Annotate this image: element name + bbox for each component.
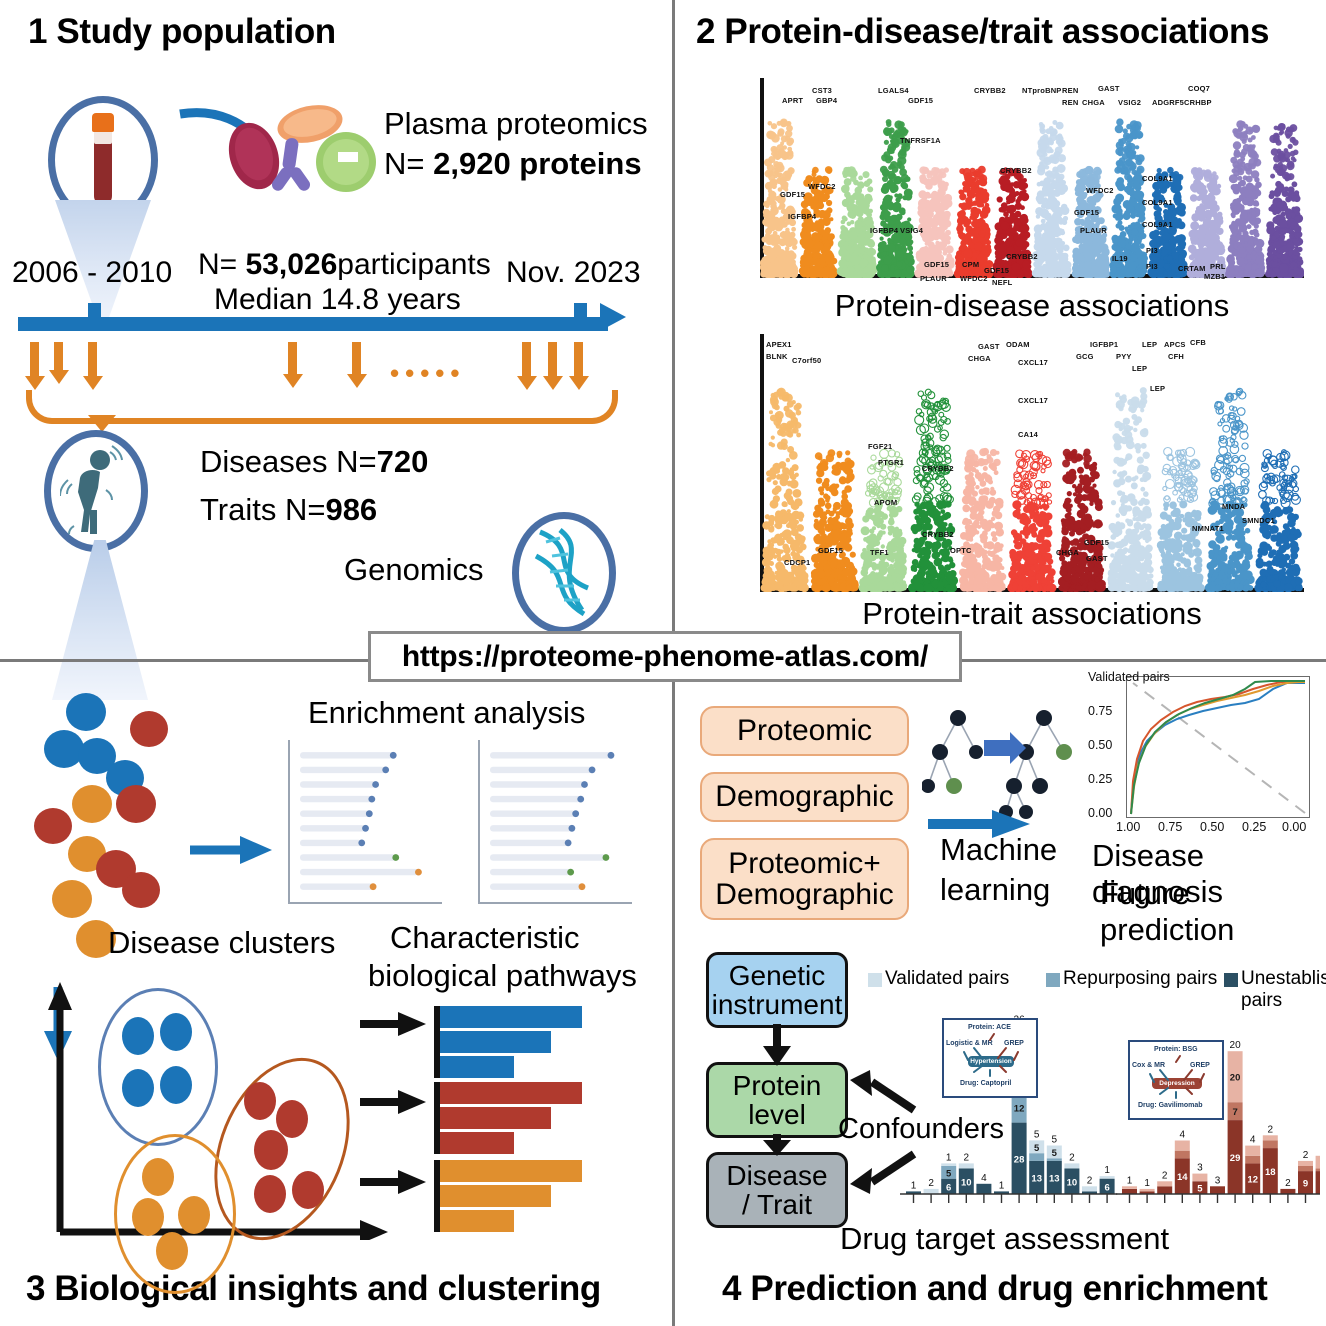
legend-label: Repurposing pairs [1063, 968, 1217, 990]
disease-trait-line2: / Trait [742, 1190, 812, 1219]
protein-count-prefix: N= [384, 146, 433, 181]
protein-count-value: 2,920 proteins [433, 146, 641, 181]
protein-disease-manhattan-plot: GDF15 WFDC2 IGFBP4 APRT CST3 GBP4 IGFBP4… [760, 78, 1304, 278]
cluster-dot [178, 1196, 210, 1234]
gene-label: TNFRSF1A [900, 136, 941, 145]
scatter-dot [130, 711, 168, 747]
participants-prefix: N= [198, 248, 246, 281]
gene-label: CA14 [1018, 430, 1038, 439]
roc-x-tick: 0.25 [1242, 820, 1266, 834]
scatter-dot [34, 808, 72, 844]
gene-label: GDF15 [818, 546, 843, 555]
gene-label: NEFL [992, 278, 1012, 287]
cluster-dot [160, 1013, 192, 1051]
gene-label: PTGR1 [878, 458, 904, 467]
followup-arrowhead [347, 374, 367, 388]
machine-learning-label-line2: learning [940, 872, 1050, 908]
cluster-dot [292, 1171, 324, 1209]
gene-label: NTproBNP [1022, 86, 1062, 95]
legend-swatch [1046, 973, 1060, 987]
dna-helix-icon [526, 526, 602, 620]
scatter-dot [52, 880, 92, 918]
roc-curves-svg [1127, 677, 1309, 817]
genetic-instrument-box[interactable]: Genetic instrument [706, 952, 848, 1028]
gene-label: CFB [1190, 338, 1206, 347]
study-end-label: Nov. 2023 [506, 256, 641, 290]
roc-y-tick: 0.75 [1088, 704, 1112, 718]
gene-label: VSIG2 [1118, 98, 1141, 107]
funnel-shape-bottom [52, 540, 148, 700]
mr-inset-bsg: Protein: BSG Cox & MR GREP Depression Dr… [1128, 1040, 1224, 1120]
gene-label: CHGA [1082, 98, 1105, 107]
pathway-bar [440, 1132, 514, 1154]
inset-spoke-lines [944, 1020, 1036, 1096]
followup-arrow [522, 342, 531, 378]
timeline-arrowhead [600, 303, 626, 331]
gene-label: PLAUR [920, 274, 947, 283]
gene-label: APEX1 [766, 340, 792, 349]
cluster-dot [122, 1017, 154, 1055]
ellipsis-dots: ••••• [390, 358, 466, 389]
input-proteomic-label: Proteomic [737, 715, 872, 747]
roc-y-tick: 0.25 [1088, 772, 1112, 786]
enrichment-flow-arrow [188, 830, 278, 870]
gene-label: CHGA [1056, 548, 1079, 557]
tube-cap-icon [92, 113, 114, 132]
gene-label: IL19 [1112, 254, 1128, 263]
plasma-proteomics-label: Plasma proteomics [384, 106, 648, 142]
followup-arrow [548, 342, 557, 378]
followup-arrow [88, 342, 97, 378]
cluster-dot [122, 1069, 154, 1107]
followup-arrowhead [283, 374, 303, 388]
cluster-dot [132, 1198, 164, 1236]
timeline-tick-end [574, 303, 587, 331]
protein-blob-cluster-icon [218, 96, 378, 206]
followup-arrow [30, 342, 39, 378]
gene-label: BLNK [766, 352, 788, 361]
participants-suffix: participants [337, 248, 490, 281]
enrichment-lollipop-svg-left [290, 740, 442, 902]
legend-label: Validated pairs [885, 968, 1009, 990]
disease-trait-line1: Disease [726, 1161, 827, 1190]
mr-inset-ace: Protein: ACE Logistic & MR GREP Hyperten… [942, 1018, 1038, 1098]
gene-label: GCG [1076, 352, 1094, 361]
followup-arrowhead [517, 376, 537, 390]
gene-label: GBP4 [816, 96, 837, 105]
cluster-outline-blue [98, 988, 218, 1146]
gene-label: CRYBB2 [922, 530, 954, 539]
gene-label: IGFBP4 [788, 212, 816, 221]
cluster-dot [244, 1082, 276, 1120]
protein-trait-manhattan-plot: APEX1 BLNK C7orf50 CDCP1 GDF15 FGF21 PTG… [760, 334, 1304, 592]
gene-label: GDF15 [984, 266, 1009, 275]
gene-label: PI3 [1146, 246, 1158, 255]
manhattan-points-disease [760, 78, 1304, 278]
gene-label: WFDC2 [1086, 186, 1114, 195]
machine-learning-label-line1: Machine [940, 832, 1057, 868]
gene-label: CFH [1168, 352, 1184, 361]
gene-label: CRYBB2 [922, 464, 954, 473]
panel-1-title: 1 Study population [28, 14, 336, 49]
gene-label: GDF15 [1074, 208, 1099, 217]
followup-arrowhead [569, 376, 589, 390]
gene-label: MNDA [1222, 502, 1245, 511]
enrichment-analysis-label: Enrichment analysis [308, 695, 585, 731]
pathway-bar [440, 1056, 514, 1078]
input-combo-label-line2: Demographic [715, 879, 893, 911]
pathways-label-line2: biological pathways [368, 958, 637, 994]
cluster-dot [276, 1100, 308, 1138]
gene-label: REN [1062, 86, 1078, 95]
gene-label: CXCL17 [1018, 358, 1048, 367]
scatter-dot [116, 785, 156, 823]
protein-level-line2: level [748, 1100, 806, 1129]
roc-x-tick: 0.50 [1200, 820, 1224, 834]
gene-label: PI3 [1146, 262, 1158, 271]
roc-x-tick: 0.75 [1158, 820, 1182, 834]
pathway-bar [440, 1210, 514, 1232]
pathway-bar [440, 1006, 582, 1028]
cluster-dot [254, 1130, 288, 1170]
protein-level-line1: Protein [733, 1071, 822, 1100]
gene-label: WFDC2 [808, 182, 836, 191]
pathway-arrow [358, 1008, 428, 1040]
atlas-url-text: https://proteome-phenome-atlas.com/ [402, 640, 928, 674]
gene-label: GDF15 [908, 96, 933, 105]
diseases-count-label: Diseases N=720 [200, 444, 428, 480]
pathways-label-line1: Characteristic [390, 920, 580, 956]
gene-label: LGALS4 [878, 86, 909, 95]
gene-label: WFDC2 [960, 274, 988, 283]
input-demographic-box[interactable]: Demographic [700, 772, 909, 822]
gene-label: IGFBP1 [1090, 340, 1118, 349]
followup-arrow [54, 342, 63, 372]
gene-label: CRYBB2 [1006, 252, 1038, 261]
enrichment-chart-left [288, 740, 442, 904]
gene-label: PYY [1116, 352, 1132, 361]
input-combo-label-line1: Proteomic+ [728, 848, 881, 880]
enrichment-lollipop-svg-right [480, 740, 632, 902]
gene-label: GDF15 [780, 190, 805, 199]
traits-label-text: Traits N= [200, 492, 325, 527]
pathway-bar [440, 1082, 582, 1104]
gene-label: COL9A1 [1142, 198, 1173, 207]
input-proteomic-demographic-box[interactable]: Proteomic+ Demographic [700, 838, 909, 920]
gene-label: APCS [1164, 340, 1186, 349]
gene-label: COL9A1 [1142, 220, 1173, 229]
future-prediction-label: Future prediction [1100, 876, 1326, 948]
followup-arrow [288, 342, 297, 376]
legend-swatch [868, 973, 882, 987]
roc-curve-chart: Validated pairs 0.75 0.50 0.25 0.00 1.00… [1086, 676, 1310, 836]
disease-trait-box[interactable]: Disease / Trait [706, 1152, 848, 1228]
protein-disease-caption: Protein-disease associations [760, 288, 1304, 324]
gene-label: NMNAT1 [1192, 524, 1224, 533]
panel-3-title: 3 Biological insights and clustering [26, 1271, 601, 1306]
gene-label: APOM [874, 498, 897, 507]
gene-label: VSIG4 [900, 226, 923, 235]
traits-count-value: 986 [325, 492, 377, 527]
gene-label: LEP [1142, 340, 1157, 349]
gene-label: CRHBP [1184, 98, 1212, 107]
gene-label: LEP [1132, 364, 1147, 373]
gene-label: CST3 [812, 86, 832, 95]
genomics-label: Genomics [344, 552, 484, 588]
gene-label: CPM [962, 260, 979, 269]
pathway-bar [440, 1185, 551, 1207]
gene-label: GDF15 [924, 260, 949, 269]
scatter-dot [66, 693, 106, 731]
legend-swatch [1224, 973, 1238, 987]
input-proteomic-box[interactable]: Proteomic [700, 706, 909, 756]
traits-count-label: Traits N=986 [200, 492, 377, 528]
protein-count-label: N= 2,920 proteins [384, 146, 642, 182]
gene-label: GDF15 [1084, 538, 1109, 547]
gene-label: IGFBP4 [870, 226, 898, 235]
gene-label: ODAM [1006, 340, 1030, 349]
gene-label: ADGRF5 [1152, 98, 1184, 107]
diseases-label-text: Diseases N= [200, 444, 377, 479]
roc-x-tick: 0.00 [1282, 820, 1306, 834]
pathway-arrow [358, 1166, 428, 1198]
gene-label: GAST [1098, 84, 1120, 93]
scatter-dot [44, 730, 84, 768]
protein-level-box[interactable]: Protein level [706, 1062, 848, 1138]
followup-arrowhead [49, 370, 69, 384]
diseases-count-value: 720 [377, 444, 429, 479]
gene-label: MZB1 [1204, 272, 1225, 281]
timeline-tick-start [88, 303, 101, 331]
scatter-dot [122, 872, 160, 908]
gene-label: CRYBB2 [1000, 166, 1032, 175]
followup-arrow [352, 342, 361, 376]
gene-label: TFF1 [870, 548, 889, 557]
cluster-dot [160, 1066, 192, 1104]
panel-2-title: 2 Protein-disease/trait associations [696, 14, 1269, 49]
flow-arrow-down [760, 1134, 794, 1156]
gene-label: CDCP1 [784, 558, 810, 567]
gene-label: FGF21 [868, 442, 892, 451]
gene-label: C7orf50 [792, 356, 821, 365]
cluster-dot [156, 1232, 188, 1270]
gene-label: PLAUR [1080, 226, 1107, 235]
study-start-label: 2006 - 2010 [12, 256, 172, 290]
gene-label: LEP [1150, 384, 1165, 393]
flow-arrow-down [760, 1024, 794, 1066]
inset-spoke-lines [1130, 1042, 1222, 1118]
participants-label: N= 53,026participants [198, 248, 491, 282]
pathway-bar [440, 1031, 551, 1053]
scatter-dot [72, 785, 112, 823]
pathway-bar [440, 1160, 582, 1182]
gene-label: GAST [978, 342, 1000, 351]
panel-4-title: 4 Prediction and drug enrichment [722, 1271, 1267, 1306]
drug-target-assessment-caption: Drug target assessment [840, 1221, 1169, 1257]
gene-label: PRL [1210, 262, 1226, 271]
cluster-dot [254, 1175, 286, 1213]
gene-label: CRTAM [1178, 264, 1206, 273]
gene-label: APRT [782, 96, 803, 105]
pathway-arrow [358, 1086, 428, 1118]
atlas-url-banner[interactable]: https://proteome-phenome-atlas.com/ [368, 631, 962, 682]
gene-label: CRYBB2 [974, 86, 1006, 95]
followup-arrowhead [83, 376, 103, 390]
gene-label: SMNDC1 [1242, 516, 1275, 525]
figure-canvas: 1 Study population Plasma proteomics N= … [0, 0, 1326, 1326]
study-timeline-bar [18, 317, 608, 331]
pathway-bar [440, 1107, 551, 1129]
followup-arrowhead [25, 376, 45, 390]
input-demographic-label: Demographic [715, 781, 893, 813]
followup-arrow [574, 342, 583, 378]
enrichment-chart-right [478, 740, 632, 904]
gene-label: CHGA [968, 354, 991, 363]
protein-trait-caption: Protein-trait associations [760, 596, 1304, 632]
roc-x-tick: 1.00 [1116, 820, 1140, 834]
gene-label: COL9A1 [1142, 174, 1173, 183]
gene-label: CXCL17 [1018, 396, 1048, 405]
followup-arrowhead [543, 376, 563, 390]
roc-plot-frame [1126, 676, 1310, 818]
disease-clusters-label: Disease clusters [108, 925, 335, 961]
gene-label: GAST [1086, 554, 1108, 563]
roc-y-tick: Validated pairs [1088, 670, 1170, 684]
gene-label: COQ7 [1188, 84, 1210, 93]
followup-label: Median 14.8 years [214, 283, 461, 317]
plasma-layer [94, 130, 112, 144]
stooped-person-icon [60, 444, 134, 540]
roc-y-tick: 0.00 [1088, 806, 1112, 820]
gene-label: OPTC [950, 546, 972, 555]
roc-y-tick: 0.50 [1088, 738, 1112, 752]
participants-value: 53,026 [246, 248, 338, 281]
gene-label: REN [1062, 98, 1078, 107]
genetic-instrument-line2: instrument [712, 990, 843, 1019]
cluster-dot [142, 1158, 174, 1196]
genetic-instrument-line1: Genetic [729, 961, 826, 990]
